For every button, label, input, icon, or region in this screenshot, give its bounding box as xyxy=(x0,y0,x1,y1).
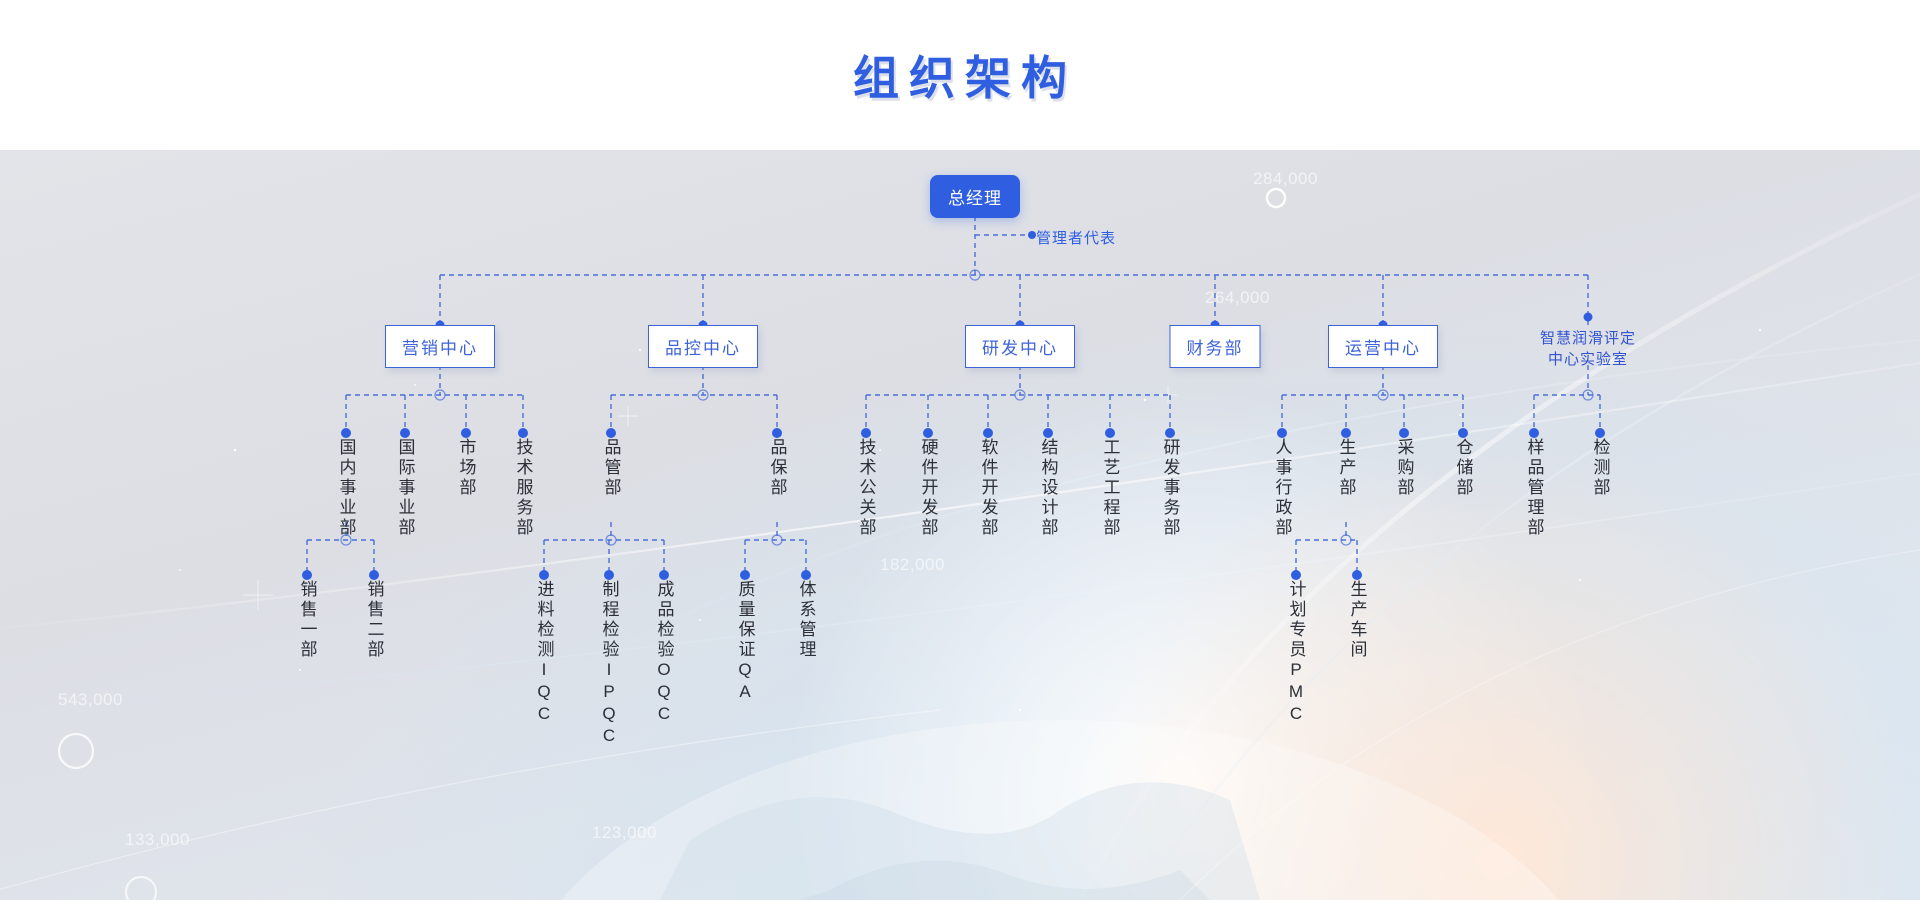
node-production-department[interactable]: 生产部 xyxy=(1338,438,1355,498)
node-label: 国际事业部 xyxy=(396,438,415,538)
node-label: 人事行政部 xyxy=(1273,438,1292,538)
node-smart-lubrication-lab[interactable]: 智慧润滑评定 中心实验室 xyxy=(1540,328,1636,370)
node-incoming-inspection-iqc[interactable]: 进料检测IQC xyxy=(536,580,553,726)
node-sales-division-one[interactable]: 销售一部 xyxy=(299,580,316,660)
node-international-business-unit[interactable]: 国际事业部 xyxy=(397,438,414,538)
node-sample-management-department[interactable]: 样品管理部 xyxy=(1526,438,1543,538)
node-label: 质量保证QA xyxy=(736,580,755,704)
node-label: 技术公关部 xyxy=(857,438,876,538)
node-purchasing-department[interactable]: 采购部 xyxy=(1396,438,1413,498)
page-title: 组织架构 xyxy=(843,42,1077,108)
node-label: 总经理 xyxy=(948,189,1002,208)
node-label: 技术服务部 xyxy=(514,438,533,538)
node-label: 生产车间 xyxy=(1348,580,1367,660)
node-label: 运营中心 xyxy=(1345,339,1421,358)
node-marketing-department[interactable]: 市场部 xyxy=(458,438,475,498)
node-label: 销售二部 xyxy=(365,580,384,660)
node-structural-design-department[interactable]: 结构设计部 xyxy=(1040,438,1057,538)
node-label: 国内事业部 xyxy=(337,438,356,538)
node-planning-specialist-pmc[interactable]: 计划专员PMC xyxy=(1288,580,1305,726)
node-label: 销售一部 xyxy=(298,580,317,660)
node-warehouse-department[interactable]: 仓储部 xyxy=(1455,438,1472,498)
node-label: 制程检验IPQC xyxy=(600,580,619,748)
node-label: 样品管理部 xyxy=(1525,438,1544,538)
node-domestic-business-unit[interactable]: 国内事业部 xyxy=(338,438,355,538)
node-sales-division-two[interactable]: 销售二部 xyxy=(366,580,383,660)
node-marketing-center[interactable]: 营销中心 xyxy=(385,325,495,368)
node-system-management[interactable]: 体系管理 xyxy=(798,580,815,660)
node-hardware-development-department[interactable]: 硬件开发部 xyxy=(920,438,937,538)
connector-lines xyxy=(0,150,1920,900)
node-label: 计划专员PMC xyxy=(1287,580,1306,726)
org-chart-stage: 543,000 133,000 123,000 182,000 264,000 … xyxy=(0,150,1920,900)
node-testing-department[interactable]: 检测部 xyxy=(1592,438,1609,498)
node-quality-assurance-qa[interactable]: 质量保证QA xyxy=(737,580,754,704)
node-quality-control-center[interactable]: 品控中心 xyxy=(648,325,758,368)
node-in-process-inspection-ipqc[interactable]: 制程检验IPQC xyxy=(601,580,618,748)
node-label: 体系管理 xyxy=(797,580,816,660)
node-label: 市场部 xyxy=(457,438,476,498)
node-label: 检测部 xyxy=(1591,438,1610,498)
node-manager-representative[interactable]: 管理者代表 xyxy=(1036,227,1116,248)
node-label: 管理者代表 xyxy=(1036,230,1116,247)
node-hr-administration-department[interactable]: 人事行政部 xyxy=(1274,438,1291,538)
node-label-line2: 中心实验室 xyxy=(1540,349,1636,370)
node-label: 营销中心 xyxy=(402,339,478,358)
node-label: 工艺工程部 xyxy=(1101,438,1120,538)
node-label: 结构设计部 xyxy=(1039,438,1058,538)
node-label: 采购部 xyxy=(1395,438,1414,498)
node-label: 研发中心 xyxy=(982,339,1058,358)
node-label: 软件开发部 xyxy=(979,438,998,538)
node-label: 研发事务部 xyxy=(1161,438,1180,538)
node-process-engineering-department[interactable]: 工艺工程部 xyxy=(1102,438,1119,538)
node-label: 品保部 xyxy=(768,438,787,498)
node-finance-department[interactable]: 财务部 xyxy=(1170,325,1261,368)
node-operations-center[interactable]: 运营中心 xyxy=(1328,325,1438,368)
node-label: 硬件开发部 xyxy=(919,438,938,538)
node-outgoing-inspection-oqc[interactable]: 成品检验OQC xyxy=(656,580,673,726)
node-label-line1: 智慧润滑评定 xyxy=(1540,328,1636,349)
node-label: 生产部 xyxy=(1337,438,1356,498)
node-rnd-center[interactable]: 研发中心 xyxy=(965,325,1075,368)
node-software-development-department[interactable]: 软件开发部 xyxy=(980,438,997,538)
page-header: 组织架构 xyxy=(0,0,1920,150)
node-label: 进料检测IQC xyxy=(535,580,554,726)
node-rnd-affairs-department[interactable]: 研发事务部 xyxy=(1162,438,1179,538)
node-label: 仓储部 xyxy=(1454,438,1473,498)
node-label: 品管部 xyxy=(602,438,621,498)
node-label: 财务部 xyxy=(1187,339,1244,358)
node-label: 品控中心 xyxy=(665,339,741,358)
org-chart-page: 组织架构 xyxy=(0,0,1920,900)
node-quality-management-department[interactable]: 品管部 xyxy=(603,438,620,498)
node-technical-pr-department[interactable]: 技术公关部 xyxy=(858,438,875,538)
node-quality-assurance-department[interactable]: 品保部 xyxy=(769,438,786,498)
node-label: 成品检验OQC xyxy=(655,580,674,726)
node-technical-service-department[interactable]: 技术服务部 xyxy=(515,438,532,538)
node-root-general-manager[interactable]: 总经理 xyxy=(930,175,1020,218)
node-production-workshop[interactable]: 生产车间 xyxy=(1349,580,1366,660)
